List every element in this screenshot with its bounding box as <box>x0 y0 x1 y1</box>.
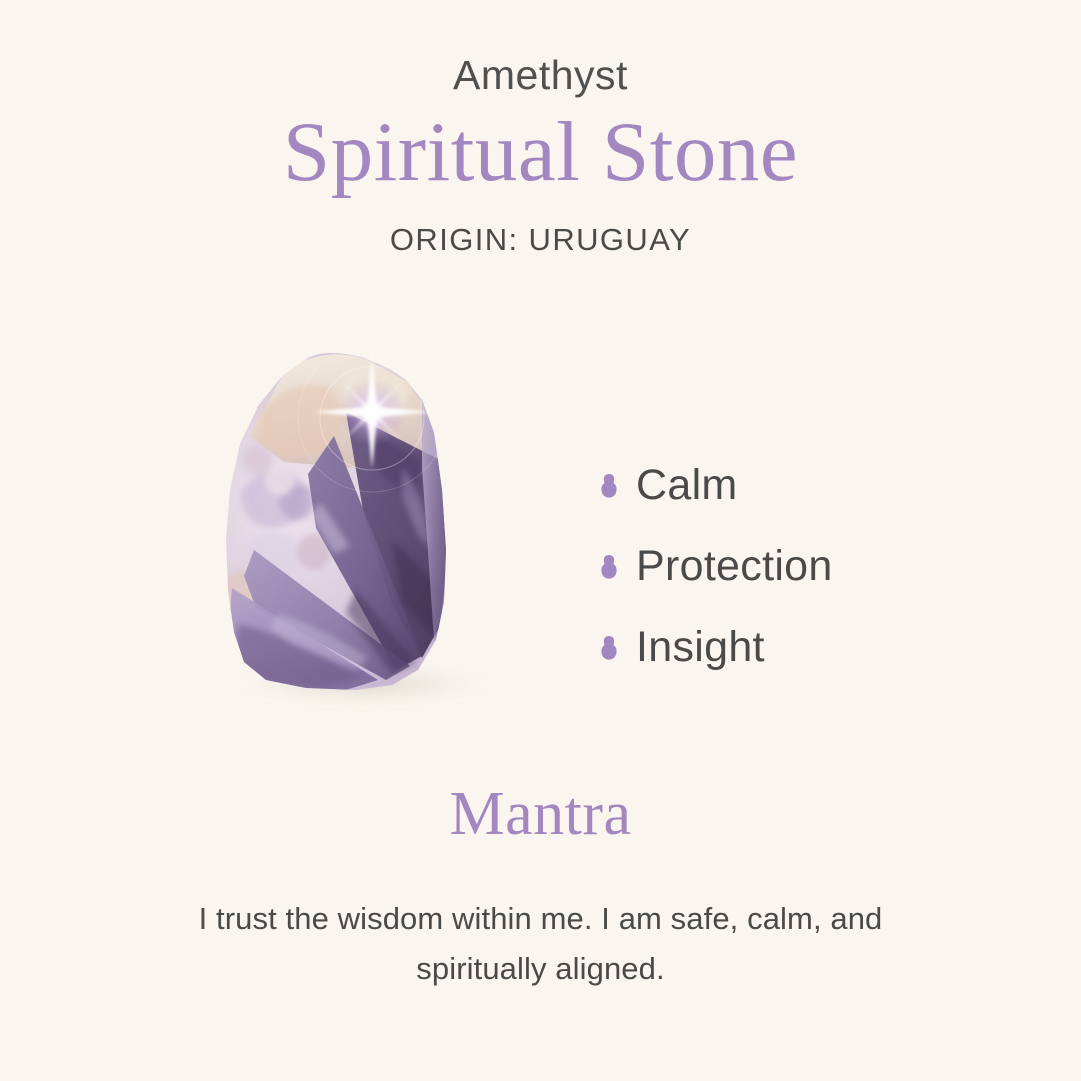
property-label: Protection <box>636 545 833 588</box>
amethyst-crystal-icon <box>196 340 526 720</box>
mantra-section: Mantra I trust the wisdom within me. I a… <box>0 780 1081 995</box>
origin-label: ORIGIN: URUGUAY <box>0 222 1081 258</box>
mantra-text: I trust the wisdom within me. I am safe,… <box>191 894 891 994</box>
amethyst-crystal-card: Amethyst Spiritual Stone ORIGIN: URUGUAY <box>0 0 1081 1081</box>
property-item: Insight <box>600 607 1020 688</box>
crystal-illustration <box>196 340 526 720</box>
card-header: Amethyst Spiritual Stone ORIGIN: URUGUAY <box>0 52 1081 258</box>
crystal-bullet-icon <box>600 635 618 661</box>
stone-name-eyebrow: Amethyst <box>0 52 1081 99</box>
property-label: Insight <box>636 626 765 669</box>
mantra-title: Mantra <box>0 780 1081 848</box>
property-label: Calm <box>636 464 738 507</box>
crystal-bullet-icon <box>600 554 618 580</box>
properties-list: Calm Protection Insight <box>600 445 1020 688</box>
property-item: Protection <box>600 526 1020 607</box>
property-item: Calm <box>600 445 1020 526</box>
page-title: Spiritual Stone <box>0 105 1081 200</box>
crystal-bullet-icon <box>600 473 618 499</box>
